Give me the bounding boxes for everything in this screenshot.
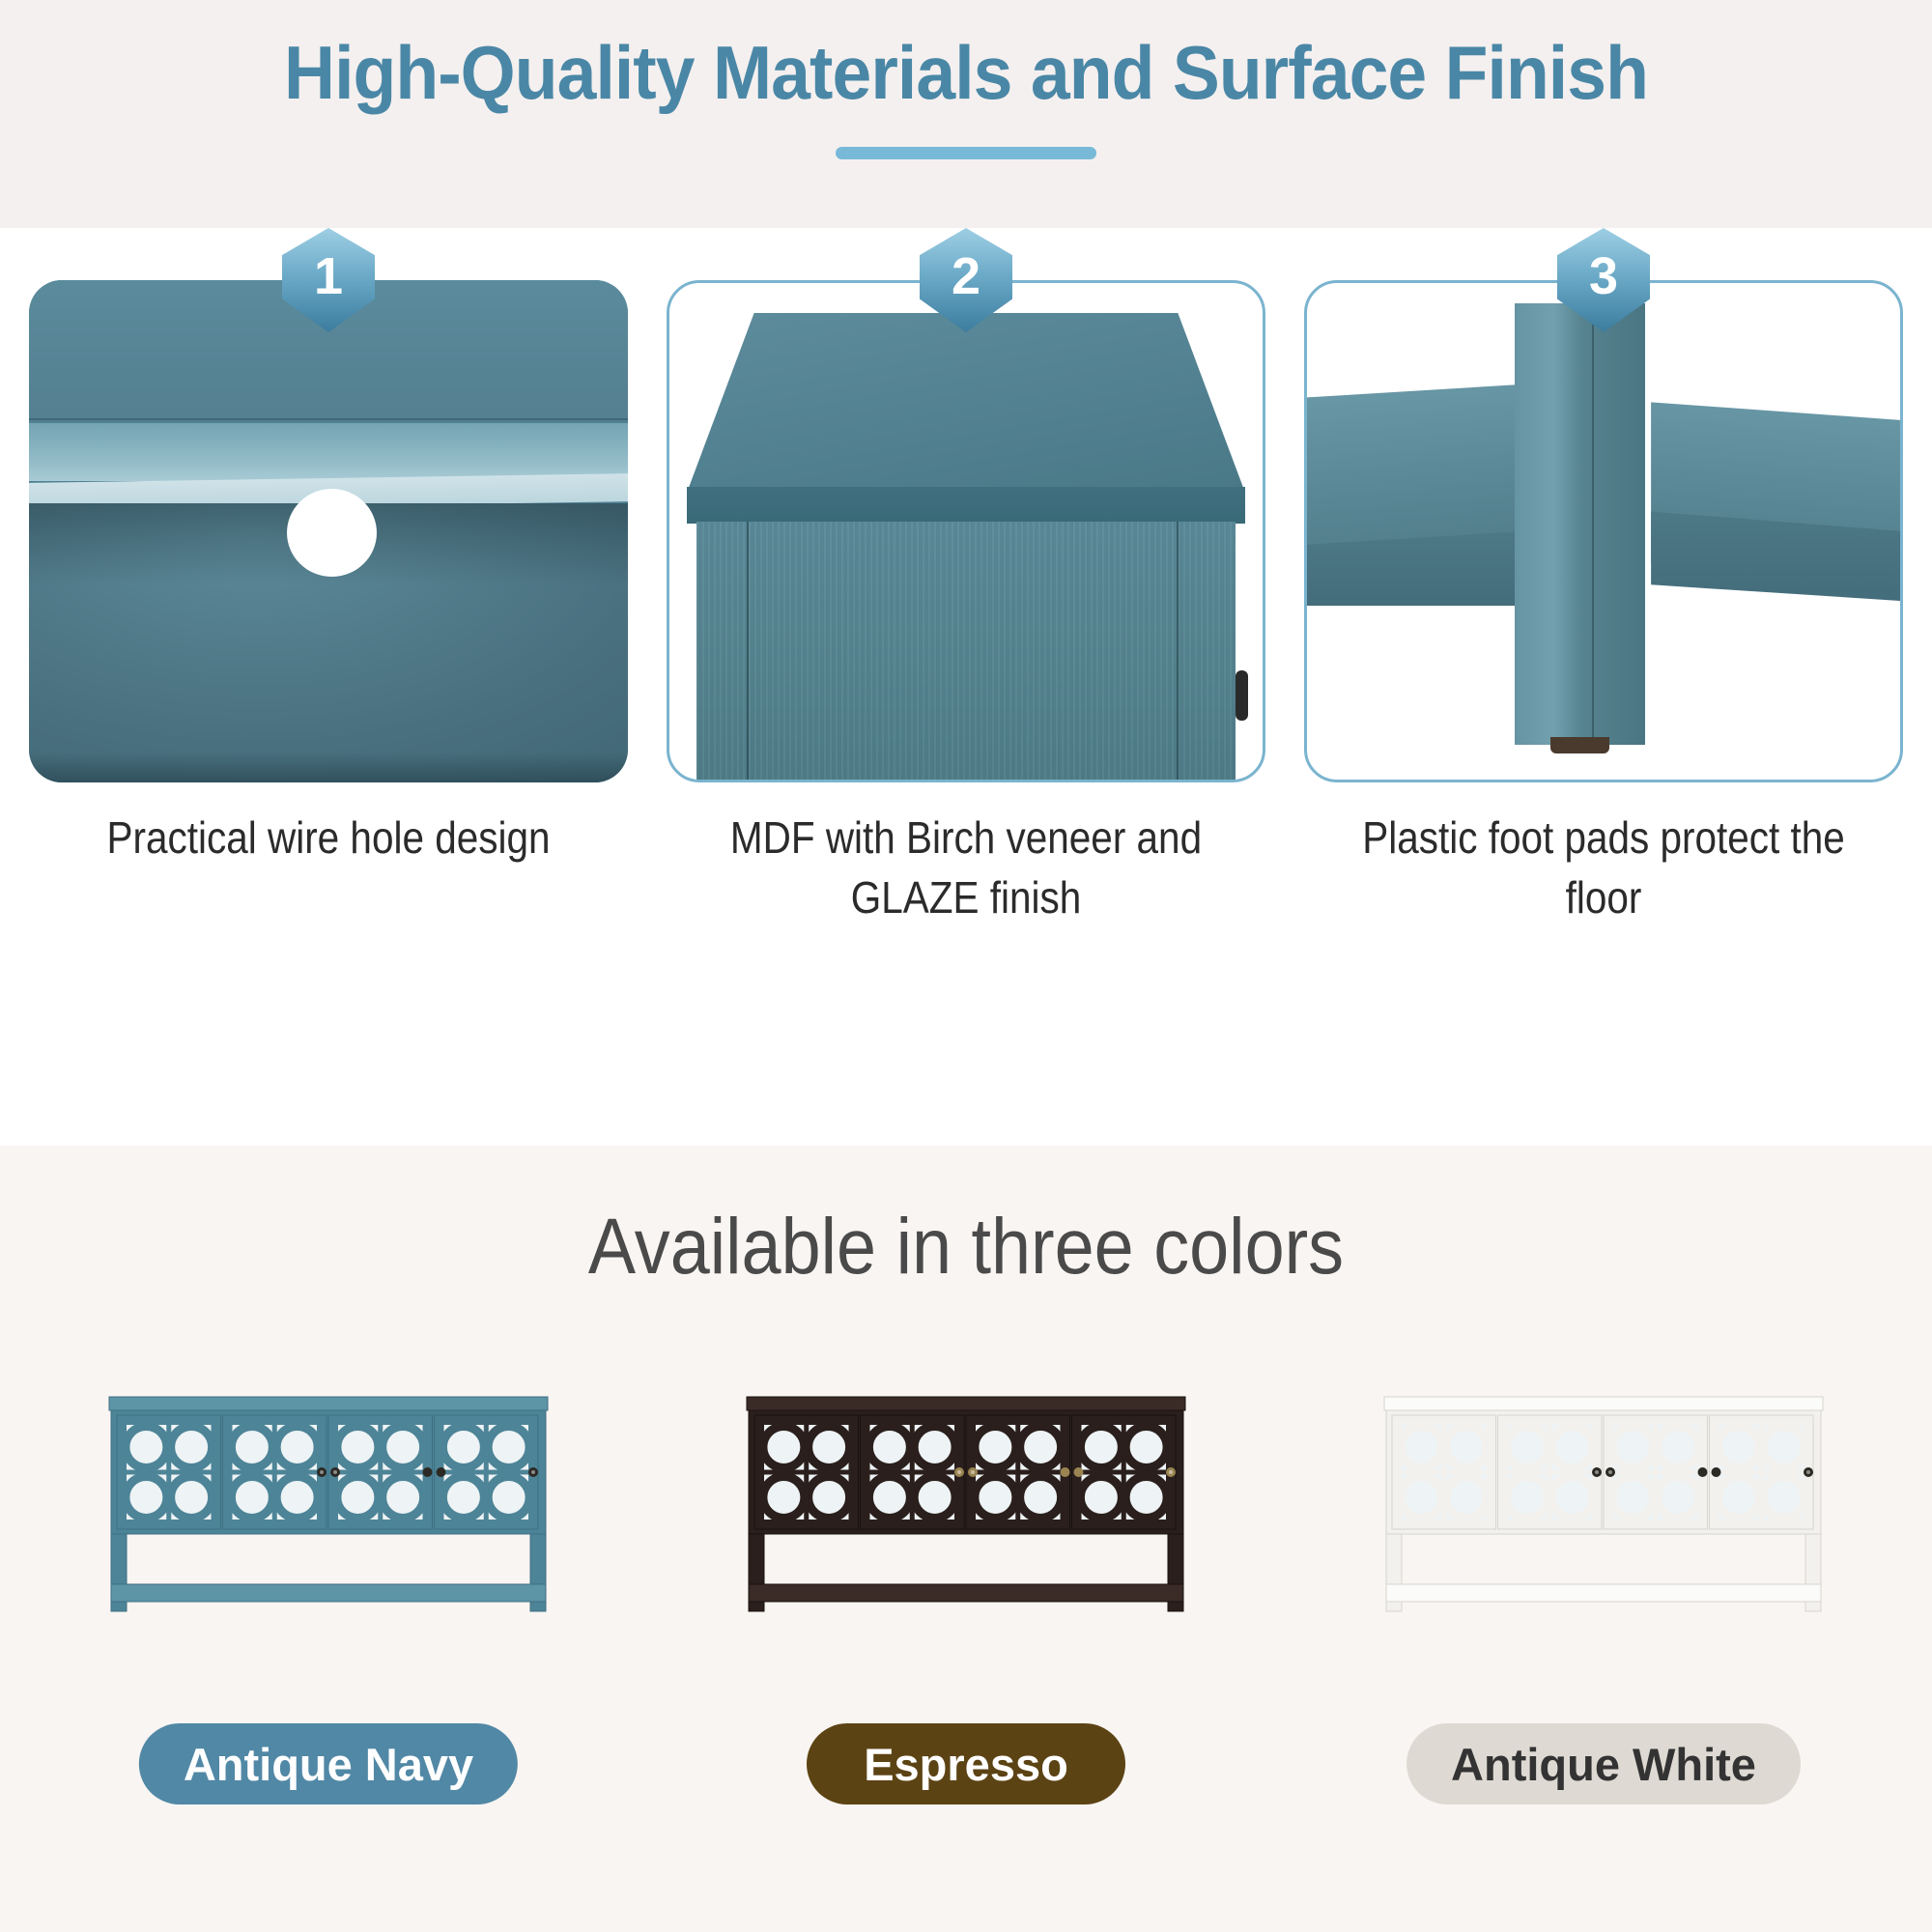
back-panel-bottom-shadow [29, 753, 628, 782]
back-panel-seam [29, 418, 628, 420]
cabinet-illustration [739, 1387, 1193, 1677]
title-underline-bar [836, 147, 1096, 159]
feature-badge-1: 1 [282, 228, 375, 332]
cabinet-seam-right [1177, 522, 1179, 780]
cabinet-tabletop-edge [687, 487, 1244, 525]
feature-caption-2: MDF with Birch veneer and GLAZE finish [702, 808, 1230, 927]
color-pill-label: Espresso [864, 1738, 1068, 1791]
cabinet-leg-foot-pad-photo [1304, 280, 1903, 782]
color-pill-label: Antique Navy [184, 1738, 473, 1791]
veneer-grain-texture [696, 522, 1236, 780]
color-pill-espresso[interactable]: Espresso [807, 1723, 1125, 1804]
colors-section-heading: Available in three colors [97, 1202, 1835, 1293]
available-colors-section: Available in three colors Antique Navy E… [0, 1146, 1932, 1932]
color-pill-label: Antique White [1451, 1738, 1756, 1791]
color-pill-antique-white[interactable]: Antique White [1406, 1723, 1801, 1804]
feature-badge-2: 2 [920, 228, 1012, 332]
cabinet-back-panel-wire-hole-photo [29, 280, 628, 782]
color-swatch-espresso[interactable]: Espresso [667, 1387, 1265, 1889]
cabinet-hinge [1236, 670, 1248, 721]
header-band: High-Quality Materials and Surface Finis… [0, 0, 1932, 228]
cabinet-top-corner-photo [667, 280, 1265, 782]
cabinet-leg-seam [1592, 303, 1594, 745]
feature-caption-1: Practical wire hole design [65, 808, 592, 867]
feature-caption-3: Plastic foot pads protect the floor [1340, 808, 1867, 927]
cabinet-illustration [1377, 1387, 1831, 1677]
color-swatch-antique-white[interactable]: Antique White [1304, 1387, 1903, 1889]
cabinet-seam-left [747, 522, 749, 780]
wire-hole [287, 489, 377, 577]
color-pill-antique-navy[interactable]: Antique Navy [139, 1723, 518, 1804]
feature-badge-number: 2 [952, 250, 980, 302]
page-title: High-Quality Materials and Surface Finis… [58, 29, 1874, 117]
feature-badge-3: 3 [1557, 228, 1650, 332]
feature-badge-number: 3 [1589, 250, 1618, 302]
infographic-page: High-Quality Materials and Surface Finis… [0, 0, 1932, 1932]
cabinet-leg [1515, 303, 1645, 745]
color-swatch-antique-navy[interactable]: Antique Navy [29, 1387, 628, 1889]
back-panel-rail [29, 423, 628, 481]
feature-badge-number: 1 [314, 250, 343, 302]
feature-panels: 1 Practical wire hole design 2 MDF with … [0, 228, 1932, 1155]
plastic-foot-pad [1550, 737, 1609, 753]
cabinet-tabletop-surface [687, 313, 1244, 492]
cabinet-illustration [101, 1387, 555, 1677]
